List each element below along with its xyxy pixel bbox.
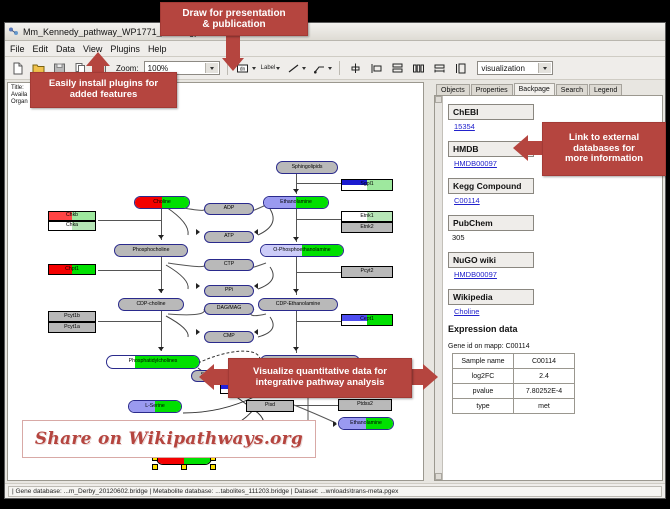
expr-label-pvalue: pvalue xyxy=(453,384,514,399)
new-file-icon[interactable] xyxy=(9,60,25,76)
arrow-icon xyxy=(196,329,200,335)
align-left-icon[interactable] xyxy=(368,60,384,76)
node-choline-top[interactable]: Choline xyxy=(134,196,190,209)
edge-cdpcholine-ptdcholine xyxy=(161,307,162,351)
datanode-chevron-icon[interactable] xyxy=(252,67,256,70)
arrow-icon xyxy=(254,329,258,335)
node-label: Sgpl1 xyxy=(360,182,373,187)
label-chevron-icon[interactable] xyxy=(276,67,280,70)
node-l-serine-left[interactable]: L-Serine xyxy=(128,400,182,413)
node-label: Ethanolamine xyxy=(350,421,382,426)
interaction-tool[interactable] xyxy=(311,60,332,76)
node-etnk2[interactable]: Etnk2 xyxy=(341,222,393,233)
scroll-down-icon[interactable] xyxy=(435,473,442,480)
callout-visualize-data: Visualize quantitative data for integrat… xyxy=(228,358,412,398)
node-label: Cept1 xyxy=(360,317,374,322)
edge-pcyt2-to-main xyxy=(296,272,342,273)
expr-value-pvalue: 7.80252E-4 xyxy=(514,384,575,399)
expression-table: Sample name C00114 log2FC 2.4 pvalue 7.8… xyxy=(452,353,575,414)
node-pcyt1b[interactable]: Pcyt1b xyxy=(48,311,96,322)
toolbar-separator-2 xyxy=(339,61,340,75)
arrow-icon xyxy=(293,289,299,293)
callout-share-wikipathways: Share on Wikipathways.org xyxy=(22,420,316,458)
table-row: pvalue 7.80252E-4 xyxy=(453,384,575,399)
interaction-icon[interactable] xyxy=(311,60,327,76)
node-ppi[interactable]: PPi xyxy=(204,285,254,297)
status-text: | Gene database: ...m_Derby_20120602.bri… xyxy=(8,486,662,497)
chevron-down-icon[interactable] xyxy=(205,63,218,73)
node-label: O-Phosphoethanolamine xyxy=(273,248,330,253)
menu-data[interactable]: Data xyxy=(56,44,75,54)
callout-plugins-arrow-icon xyxy=(86,52,110,66)
arrow-icon xyxy=(293,237,299,241)
tab-objects[interactable]: Objects xyxy=(436,84,470,95)
db-header-pubchem: PubChem xyxy=(448,215,534,231)
node-label: Pcyt1b xyxy=(64,314,80,319)
edge-chpt1-to-main xyxy=(98,270,162,271)
node-chpt1[interactable]: Chpt1 xyxy=(48,264,96,275)
arrow-icon xyxy=(158,289,164,293)
node-label: Etnk1 xyxy=(360,214,373,219)
callout-links-line1: Link to external xyxy=(569,133,639,144)
arrow-icon xyxy=(333,421,337,427)
edge-cept1-to-main xyxy=(296,321,342,322)
pathvisio-icon xyxy=(8,26,19,37)
line-icon[interactable] xyxy=(285,60,301,76)
db-header-kegg-compound: Kegg Compound xyxy=(448,178,534,194)
stack-vertical-icon[interactable] xyxy=(389,60,405,76)
node-label: ATP xyxy=(224,234,234,239)
expr-label-log2fc: log2FC xyxy=(453,369,514,384)
visualization-value: visualization xyxy=(481,64,525,73)
node-chka[interactable]: Chka xyxy=(48,221,96,231)
node-label: DAG/MAG xyxy=(217,306,242,311)
node-pcyt2[interactable]: Pcyt2 xyxy=(341,266,393,278)
tab-legend[interactable]: Legend xyxy=(589,84,622,95)
callout-draw-for-publication: Draw for presentation & publication xyxy=(160,2,308,36)
node-chkb[interactable]: Chkb xyxy=(48,211,96,221)
common-height-icon[interactable] xyxy=(452,60,468,76)
node-ethanolamine-bottom[interactable]: Ethanolamine xyxy=(338,417,394,430)
callout-visualize-arrow-left-icon xyxy=(199,364,214,390)
callout-visualize-arrow-right-icon xyxy=(423,364,438,390)
vertical-scrollbar[interactable] xyxy=(435,96,443,480)
node-dagmag[interactable]: DAG/MAG xyxy=(204,303,254,315)
node-cdp-choline[interactable]: CDP-choline xyxy=(118,298,184,311)
pathway-info-labels: Title: Availa Organ xyxy=(11,85,28,106)
distribute-horizontal-icon[interactable] xyxy=(410,60,426,76)
edge-chk-to-main xyxy=(98,220,162,221)
node-label: Phosphocholine xyxy=(133,248,170,253)
callout-links-line3: more information xyxy=(565,154,643,165)
edge-etnk-to-main xyxy=(296,219,342,220)
node-label: CTP xyxy=(224,262,234,267)
node-label: L-Serine xyxy=(145,404,165,409)
menu-edit[interactable]: Edit xyxy=(33,44,49,54)
node-sgpl1[interactable]: Sgpl1 xyxy=(341,179,393,191)
db-link-nugo-wiki[interactable]: HMDB00097 xyxy=(454,270,656,279)
callout-install-plugins: Easily install plugins for added feature… xyxy=(30,72,177,108)
node-pisd[interactable]: Pisd xyxy=(246,400,294,412)
edge-pcyt1-to-main xyxy=(98,321,162,322)
info-availability-label: Availa xyxy=(11,92,28,99)
edge-phosphocholine-cdpcholine xyxy=(161,253,162,293)
arrow-icon xyxy=(293,347,299,351)
node-label: Pcyt2 xyxy=(361,269,374,274)
info-organism-label: Organ xyxy=(11,99,28,106)
callout-plugins-line2: added features xyxy=(70,90,138,101)
node-label: Pcyt1a xyxy=(64,325,80,330)
gene-id-on-mapp: Gene id on mapp: C00114 xyxy=(448,343,656,350)
node-sphingolipids[interactable]: Sphingolipids xyxy=(276,161,338,174)
edge-ptdss2-to-main xyxy=(296,405,340,406)
node-ptdss2[interactable]: Ptdss2 xyxy=(338,399,392,411)
arrow-icon xyxy=(254,283,258,289)
expr-value-log2fc: 2.4 xyxy=(514,369,575,384)
db-header-chebi: ChEBI xyxy=(448,104,534,120)
node-atp[interactable]: ATP xyxy=(204,231,254,243)
selection-handle[interactable] xyxy=(152,464,158,470)
label-tool[interactable]: Label xyxy=(261,65,281,71)
node-cept1[interactable]: Cept1 xyxy=(341,314,393,326)
node-label: CMP xyxy=(223,334,235,339)
node-cmp[interactable]: CMP xyxy=(204,331,254,343)
info-title-label: Title: xyxy=(11,85,28,92)
node-adp[interactable]: ADP xyxy=(204,203,254,215)
expr-value-sample-name: C00114 xyxy=(514,354,575,369)
arrow-icon xyxy=(196,229,200,235)
visualization-chevron-icon[interactable] xyxy=(538,63,551,73)
node-label: Etnk2 xyxy=(360,225,373,230)
menu-help[interactable]: Help xyxy=(148,44,167,54)
node-etnk1[interactable]: Etnk1 xyxy=(341,211,393,222)
align-center-icon[interactable] xyxy=(347,60,363,76)
node-label: Choline xyxy=(153,200,171,205)
node-phosphocholine[interactable]: Phosphocholine xyxy=(114,244,188,257)
expr-label-sample-name: Sample name xyxy=(453,354,514,369)
menu-plugins[interactable]: Plugins xyxy=(110,44,140,54)
arrow-icon xyxy=(196,283,200,289)
node-label: CDP-choline xyxy=(136,302,165,307)
callout-draw-line1: Draw for presentation xyxy=(182,8,285,20)
table-row: type met xyxy=(453,399,575,414)
node-label: Pisd xyxy=(265,403,275,408)
arrow-icon xyxy=(158,235,164,239)
screenshot-root: Mm_Kennedy_pathway_WP1771_45176.gpml Fil… xyxy=(0,0,670,509)
callout-visualize-line2: integrative pathway analysis xyxy=(256,378,385,389)
node-pcyt1a[interactable]: Pcyt1a xyxy=(48,322,96,333)
tab-backpage[interactable]: Backpage xyxy=(514,83,555,95)
node-phosphatidylcholines[interactable]: Phosphatidylcholines xyxy=(106,355,200,369)
callout-draw-arrow-icon xyxy=(222,58,244,71)
expr-label-type: type xyxy=(453,399,514,414)
node-label: PPi xyxy=(225,288,233,293)
status-bar: | Gene database: ...m_Derby_20120602.bri… xyxy=(5,483,665,498)
menu-file[interactable]: File xyxy=(10,44,25,54)
visualization-combo[interactable]: visualization xyxy=(477,61,553,75)
db-header-nugo-wiki: NuGO wiki xyxy=(448,252,534,268)
callout-external-links: Link to external databases for more info… xyxy=(542,122,666,176)
node-ctp[interactable]: CTP xyxy=(204,259,254,271)
callout-links-arrow-icon xyxy=(513,135,528,161)
selection-handle[interactable] xyxy=(181,464,187,470)
node-label: Phosphatidylcholines xyxy=(129,359,178,364)
label-tool-text: Label xyxy=(261,65,276,71)
node-label: Ethanolamine xyxy=(280,200,312,205)
interaction-chevron-icon[interactable] xyxy=(328,67,332,70)
node-o-phosphoethanolamine[interactable]: O-Phosphoethanolamine xyxy=(260,244,344,257)
node-label: Sphingolipids xyxy=(292,165,323,170)
table-row: Sample name C00114 xyxy=(453,354,575,369)
callout-draw-stem xyxy=(226,34,240,60)
selection-handle[interactable] xyxy=(210,464,216,470)
arrow-icon xyxy=(254,229,258,235)
node-label: Ptdss2 xyxy=(357,402,373,407)
arrow-icon xyxy=(293,189,299,193)
node-label: Chpt1 xyxy=(65,267,79,272)
scroll-up-icon[interactable] xyxy=(435,96,442,103)
edge-sgpl1-to-main xyxy=(296,183,342,184)
share-text: Share on Wikipathways.org xyxy=(35,429,303,449)
db-header-wikipedia: Wikipedia xyxy=(448,289,534,305)
node-label: Chkb xyxy=(66,213,78,218)
side-panel-tabs: Objects Properties Backpage Search Legen… xyxy=(426,82,663,95)
tab-properties[interactable]: Properties xyxy=(471,84,513,95)
callout-draw-line2: & publication xyxy=(202,19,265,31)
expr-value-type: met xyxy=(514,399,575,414)
node-ethanolamine-top[interactable]: Ethanolamine xyxy=(263,196,329,209)
node-label: CDP-Ethanolamine xyxy=(276,302,320,307)
node-cdp-ethanolamine[interactable]: CDP-Ethanolamine xyxy=(258,298,338,311)
tab-search[interactable]: Search xyxy=(556,84,588,95)
expression-data-heading: Expression data xyxy=(448,324,656,334)
db-value-pubchem: 305 xyxy=(452,233,656,242)
node-label: Chka xyxy=(66,223,78,228)
db-link-wikipedia[interactable]: Choline xyxy=(454,307,656,316)
title-bar: Mm_Kennedy_pathway_WP1771_45176.gpml xyxy=(5,23,665,41)
line-tool[interactable] xyxy=(285,60,306,76)
line-chevron-icon[interactable] xyxy=(302,67,306,70)
arrow-icon xyxy=(158,347,164,351)
db-link-kegg-compound[interactable]: C00114 xyxy=(454,196,656,205)
common-width-icon[interactable] xyxy=(431,60,447,76)
table-row: log2FC 2.4 xyxy=(453,369,575,384)
node-label: ADP xyxy=(224,206,235,211)
